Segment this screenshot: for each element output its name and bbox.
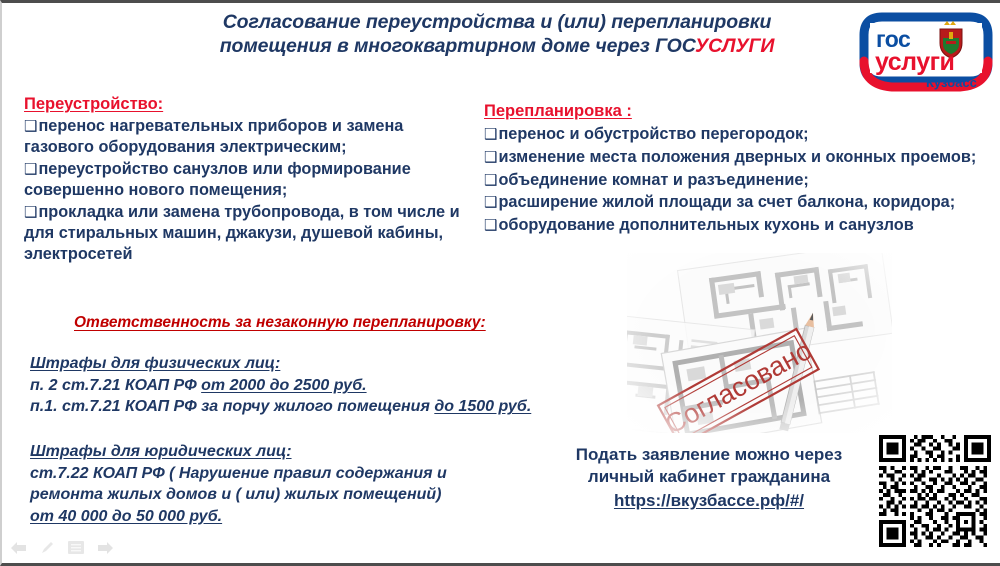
section-pereustroystvo: Переустройство: ❑перенос нагревательных … [24,95,464,266]
right-bullet-list: ❑перенос и обустройство перегородок; ❑из… [484,123,996,237]
portal-link[interactable]: https://вкузбассе.рф/#/ [614,490,804,512]
section-heading-right: Перепланировка : [484,102,996,121]
list-item-label: переустройство санузлов или формирование… [24,160,411,199]
fines-individuals-line-1: п. 2 ст.7.21 КОАП РФ от 2000 до 2500 руб… [30,375,575,396]
cta-line-1: Подать заявление можно через [550,444,868,466]
call-to-action: Подать заявление можно через личный каби… [550,444,868,512]
presentation-slide: Согласование переустройства и (или) пере… [0,0,1000,566]
list-item: ❑расширение жилой площади за счет балкон… [484,191,996,213]
list-item-label: объединение комнат и разъединение; [498,171,808,189]
page-title: Согласование переустройства и (или) пере… [152,11,842,59]
checkbox-bullet-icon: ❑ [484,149,498,166]
checkbox-bullet-icon: ❑ [484,217,498,234]
floorplan-photo: Согласовано [627,253,892,433]
checkbox-bullet-icon: ❑ [24,118,38,135]
svg-text:Кузбасс: Кузбасс [926,75,977,90]
list-item-label: перенос и обустройство перегородок; [498,125,808,143]
svg-text:услуги: услуги [875,48,954,76]
checkbox-bullet-icon: ❑ [484,194,498,211]
fines-legal-entities-amount: от 40 000 до 50 000 руб. [30,506,575,527]
section-pereplanirovka: Перепланировка : ❑перенос и обустройство… [484,102,996,237]
fines-legal-entities-block: Штрафы для юридических лиц: ст.7.22 КОАП… [30,443,575,527]
list-item: ❑переустройство санузлов или формировани… [24,159,464,201]
list-item: ❑оборудование дополнительных кухонь и са… [484,214,996,236]
fines-legal-entities-line-1: ст.7.22 КОАП РФ ( Нарушение правил содер… [30,463,575,484]
fines-legal-entities-line-2: ремонта жилых домов и ( или) жилых помещ… [30,484,575,505]
section-heading-left: Переустройство: [24,95,464,114]
menu-icon[interactable] [68,541,84,554]
fines-individuals-title: Штрафы для физических лиц: [30,355,280,373]
back-arrow-icon[interactable] [10,541,27,555]
fines-legal-entities-title: Штрафы для юридических лиц: [30,443,292,461]
list-item-label: оборудование дополнительных кухонь и сан… [498,216,913,234]
list-item: ❑объединение комнат и разъединение; [484,169,996,191]
list-item-label: перенос нагревательных приборов и замена… [24,117,403,156]
liability-heading: Ответственность за незаконную перепланир… [74,314,486,332]
fines-individuals-line-2-amount: до 1500 руб. [434,398,531,415]
list-item-label: расширение жилой площади за счет балкона… [498,193,955,211]
checkbox-bullet-icon: ❑ [484,126,498,143]
fines-individuals-line-2: п.1. ст.7.21 КОАП РФ за порчу жилого пом… [30,396,575,417]
title-line-2-prefix: помещения в многоквартирном доме через Г… [220,35,695,57]
checkbox-bullet-icon: ❑ [24,161,38,178]
list-item: ❑прокладка или замена трубопровода, в то… [24,202,464,266]
title-line-2-accent: УСЛУГИ [695,35,774,57]
list-item-label: прокладка или замена трубопровода, в том… [24,203,460,263]
qr-code[interactable] [879,435,991,547]
fines-legal-entities-amount-value: от 40 000 до 50 000 руб. [30,508,222,525]
checkbox-bullet-icon: ❑ [484,172,498,189]
title-line-1: Согласование переустройства и (или) пере… [152,11,842,35]
fines-individuals-line-1-amount: от 2000 до 2500 руб. [201,377,366,394]
gosuslugi-kuzbass-logo: гос услуги Кузбасс [858,5,994,97]
checkbox-bullet-icon: ❑ [24,204,38,221]
slideshow-toolbar[interactable] [10,540,114,555]
cta-line-2: личный кабинет гражданина [550,466,868,488]
forward-arrow-icon[interactable] [97,541,114,555]
fines-individuals-line-1-prefix: п. 2 ст.7.21 КОАП РФ [30,377,201,394]
left-bullet-list: ❑перенос нагревательных приборов и замен… [24,116,464,265]
list-item: ❑изменение места положения дверных и око… [484,146,996,168]
list-item: ❑перенос нагревательных приборов и замен… [24,116,464,158]
fines-individuals-line-2-prefix: п.1. ст.7.21 КОАП РФ за порчу жилого пом… [30,398,434,415]
title-line-2: помещения в многоквартирном доме через Г… [152,35,842,59]
pen-icon[interactable] [40,540,55,555]
list-item: ❑перенос и обустройство перегородок; [484,123,996,145]
list-item-label: изменение места положения дверных и окон… [498,148,976,166]
fines-individuals-block: Штрафы для физических лиц: п. 2 ст.7.21 … [30,355,575,418]
